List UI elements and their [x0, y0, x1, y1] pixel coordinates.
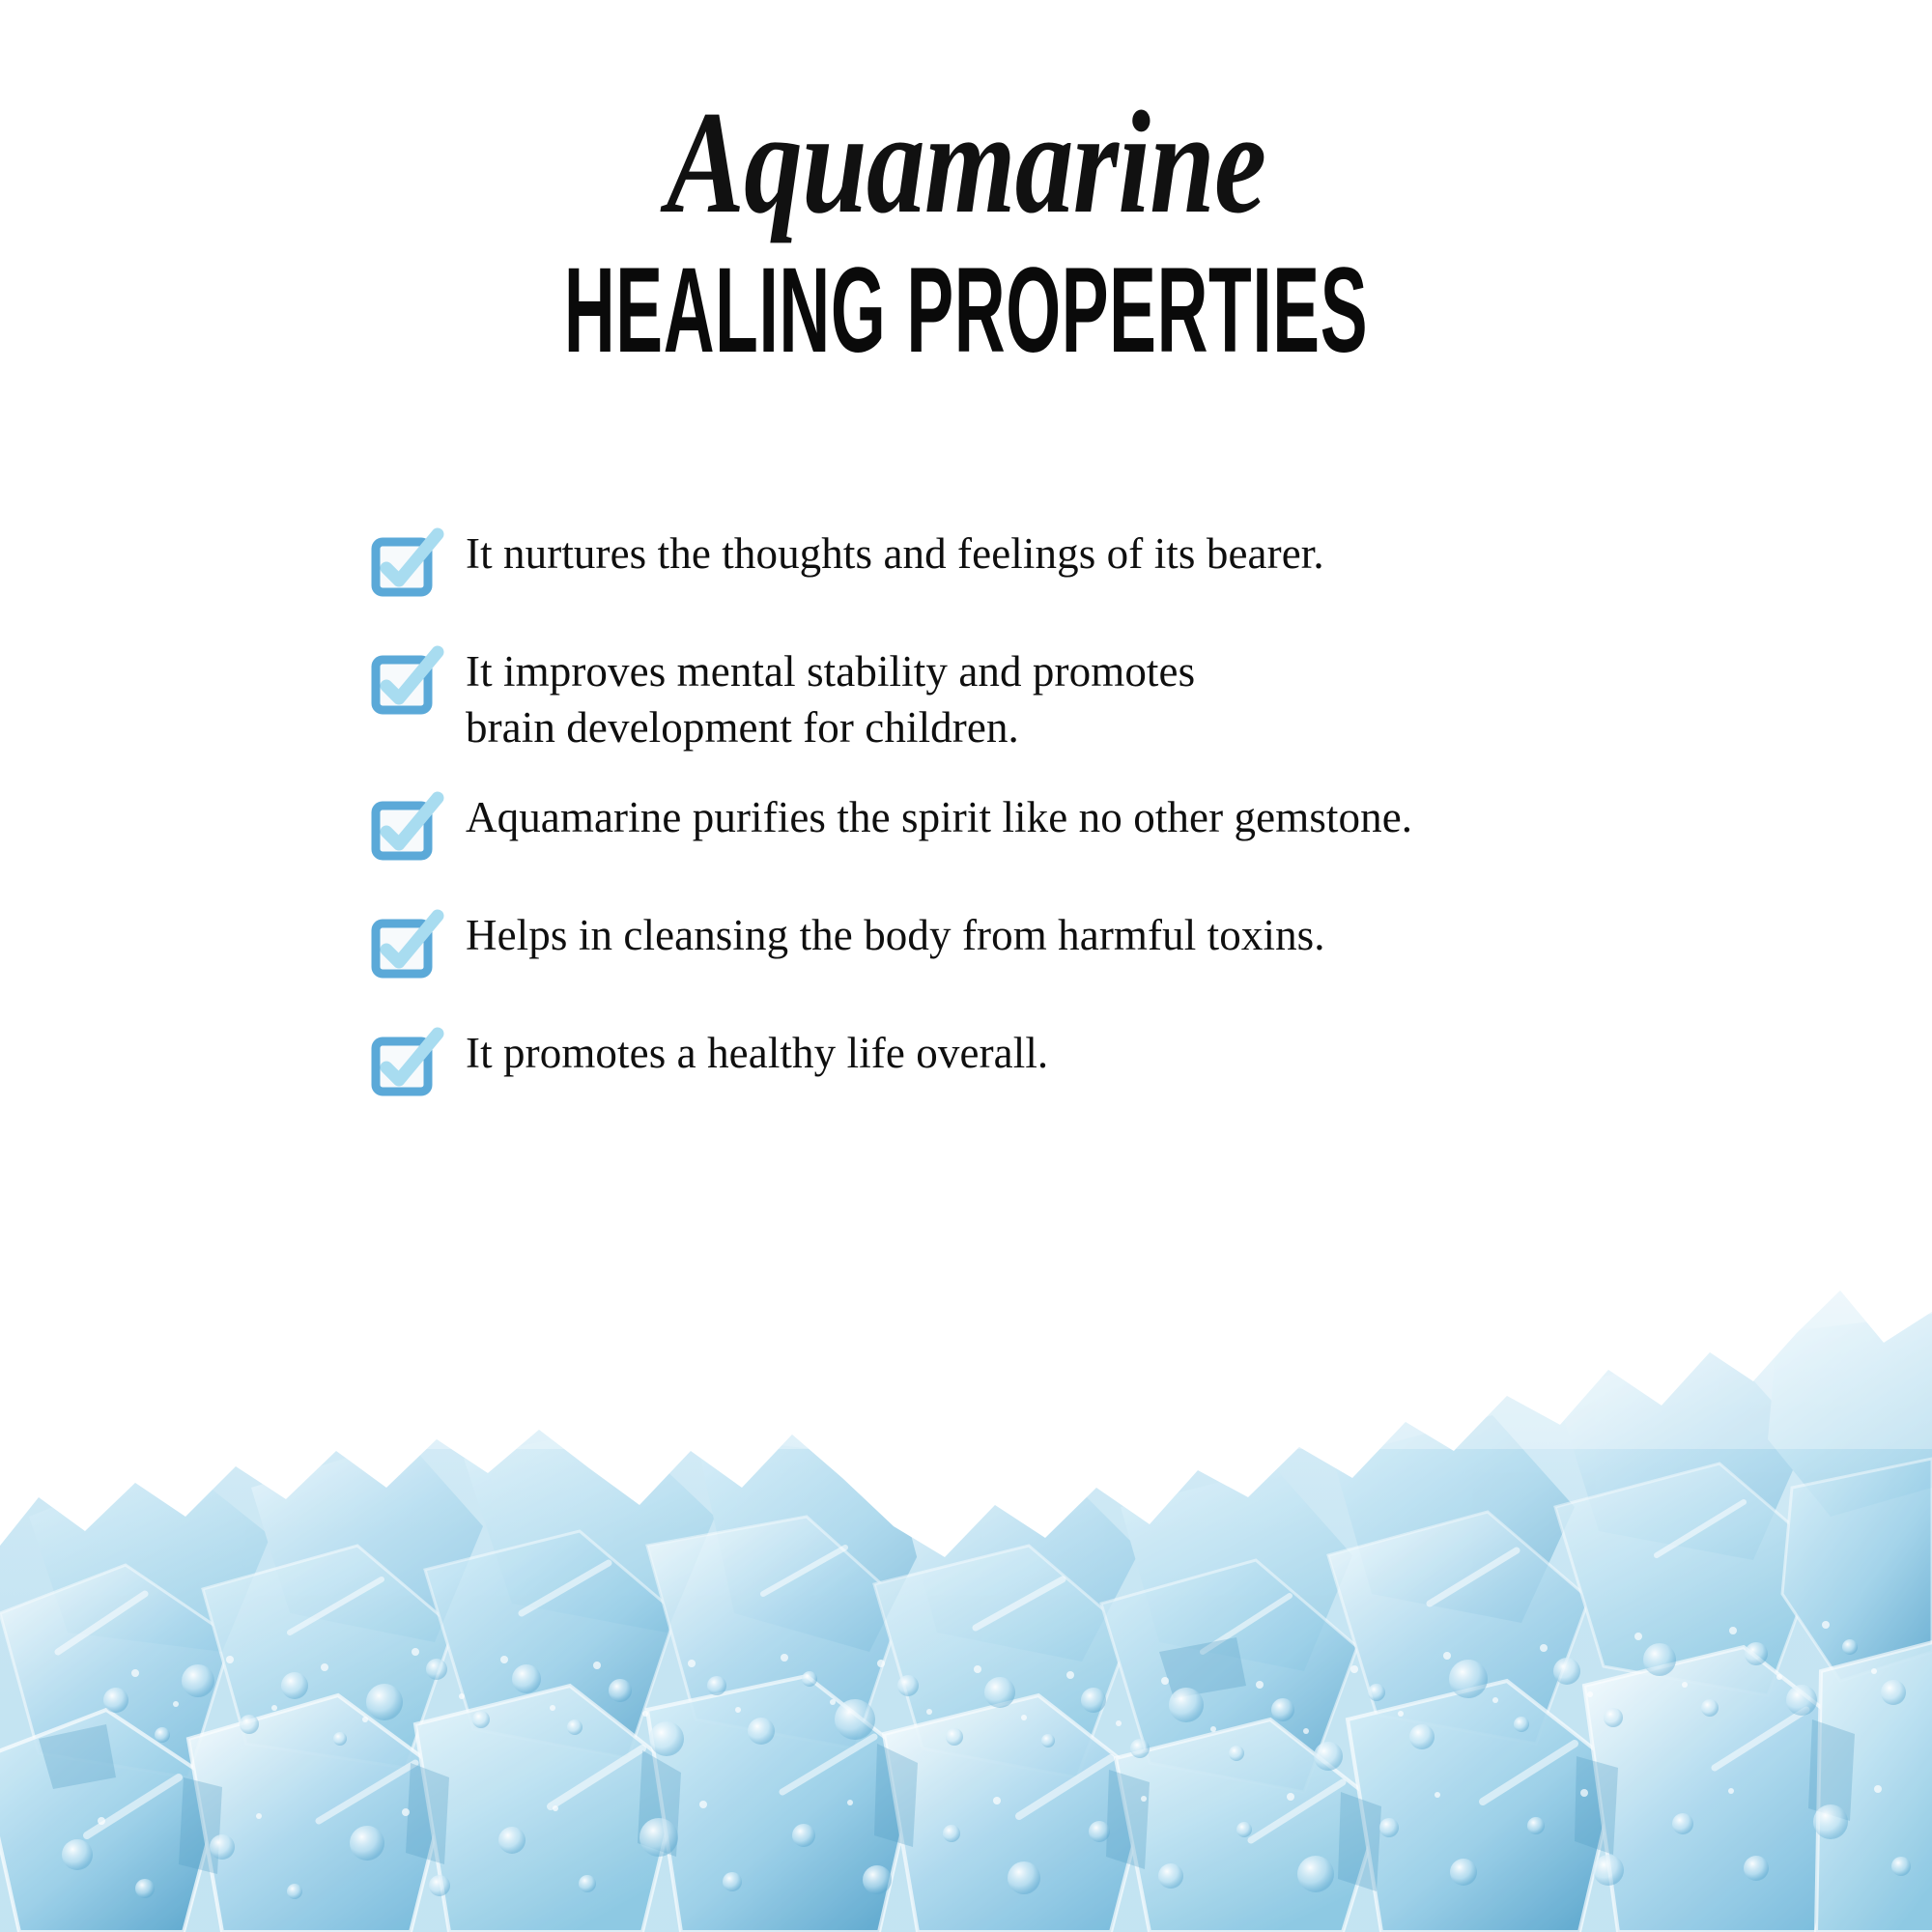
list-item-label: Helps in cleansing the body from harmful…	[466, 908, 1325, 964]
list-item-label: Aquamarine purifies the spirit like no o…	[466, 790, 1412, 846]
list-item: Helps in cleansing the body from harmful…	[373, 908, 1609, 976]
list-item-label: It nurtures the thoughts and feelings of…	[466, 526, 1324, 582]
poster-header: Aquamarine HEALING PROPERTIES	[0, 0, 1932, 367]
page-title: Aquamarine	[193, 0, 1739, 236]
checkbox-checked-icon	[373, 1037, 429, 1094]
page-subtitle: HEALING PROPERTIES	[367, 232, 1565, 371]
list-item: Aquamarine purifies the spirit like no o…	[373, 790, 1609, 858]
checkbox-checked-icon	[373, 656, 429, 712]
checkbox-checked-icon	[373, 802, 429, 858]
healing-properties-list: It nurtures the thoughts and feelings of…	[373, 526, 1609, 1144]
list-item: It improves mental stability and promote…	[373, 644, 1609, 755]
list-item: It nurtures the thoughts and feelings of…	[373, 526, 1609, 594]
ice-cubes-photo	[0, 1198, 1932, 1932]
checkbox-checked-icon	[373, 920, 429, 976]
list-item: It promotes a healthy life overall.	[373, 1026, 1609, 1094]
poster-canvas: Aquamarine HEALING PROPERTIES It nurture…	[0, 0, 1932, 1932]
list-item-label: It promotes a healthy life overall.	[466, 1026, 1048, 1082]
list-item-label: It improves mental stability and promote…	[466, 644, 1195, 755]
checkbox-checked-icon	[373, 538, 429, 594]
